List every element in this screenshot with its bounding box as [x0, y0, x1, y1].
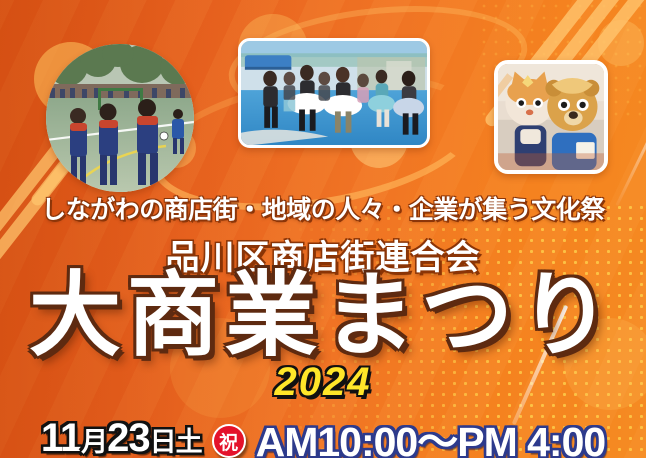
date-time-row: 11月23日土 祝 AM10:00〜PM 4:00	[0, 408, 646, 458]
event-time: AM10:00〜PM 4:00	[256, 408, 606, 458]
event-date: 11月23日土	[41, 416, 202, 458]
dance-photo-image	[241, 41, 427, 145]
date-day-unit: 日	[150, 427, 176, 457]
date-month: 11	[41, 416, 81, 458]
festival-poster: しながわの商店街・地域の人々・企業が集う文化祭 品川区商店街連合会 大商業まつり…	[0, 0, 646, 458]
page-title: 大商業まつり	[0, 268, 646, 364]
mascot-photo-image	[498, 64, 604, 170]
date-weekday: 土	[176, 427, 202, 457]
soccer-photo-image	[46, 44, 194, 192]
year-text: 2024	[0, 360, 646, 405]
soccer-photo	[46, 44, 194, 192]
holiday-badge: 祝	[212, 424, 246, 458]
tagline-text: しながわの商店街・地域の人々・企業が集う文化祭	[0, 190, 646, 226]
dance-photo	[238, 38, 430, 148]
date-month-unit: 月	[81, 427, 107, 457]
mascot-photo	[494, 60, 608, 174]
date-day: 23	[107, 416, 150, 458]
